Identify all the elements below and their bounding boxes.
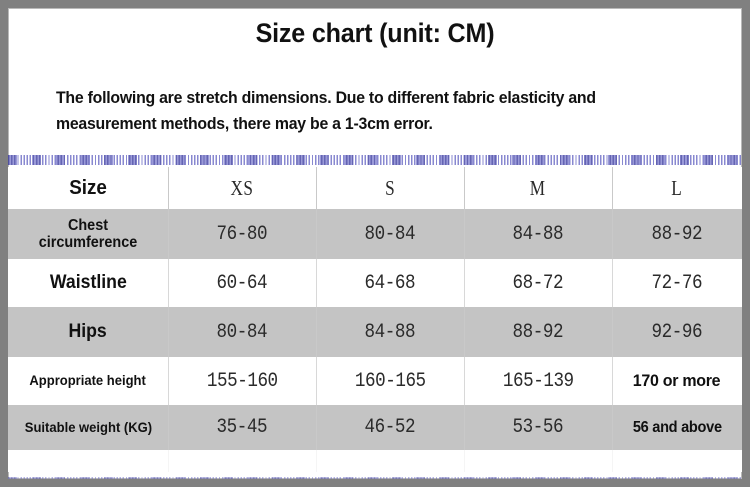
row-value-cell: 88-92 [612, 209, 742, 259]
row-value-cell: 165-139 [464, 357, 612, 405]
table-row: Hips 80-84 84-88 88-92 92-96 [8, 307, 742, 357]
row-value: 68-72 [513, 272, 564, 295]
row-value: 64-68 [365, 272, 416, 295]
header-cell-label: Size [8, 167, 168, 209]
row-value-cell: 170 or more [612, 357, 742, 405]
page-title: Size chart (unit: CM) [34, 18, 717, 49]
header-size-m: M [530, 176, 546, 201]
row-value: 165-139 [503, 370, 574, 393]
row-label-cell: Appropriate height [8, 357, 168, 405]
row-value-cell: 160-165 [316, 357, 464, 405]
row-value-cell: 80-84 [316, 209, 464, 259]
row-value: 56 and above [633, 419, 722, 437]
row-value-cell [464, 450, 612, 472]
row-value: 60-64 [217, 272, 268, 295]
row-value-cell: 64-68 [316, 259, 464, 307]
row-value-cell [316, 450, 464, 472]
row-label-cell: Suitable weight (KG) [8, 405, 168, 450]
row-value-cell: 35-45 [168, 405, 316, 450]
row-label-cell: Hips [8, 307, 168, 357]
row-value-cell: 88-92 [464, 307, 612, 357]
row-value-cell [612, 450, 742, 472]
table-row: Waistline 60-64 64-68 68-72 72-76 [8, 259, 742, 307]
header-cell-l: L [612, 167, 742, 209]
size-chart-card: Size chart (unit: CM) The following are … [8, 8, 742, 479]
table-row-partial [8, 450, 742, 472]
row-value: 88-92 [652, 223, 703, 246]
header-size-xs: XS [231, 176, 254, 201]
row-value: 80-84 [217, 321, 268, 344]
row-value-cell: 76-80 [168, 209, 316, 259]
row-label: Chest circumference [14, 217, 163, 252]
table-header-row: Size XS S M L [8, 167, 742, 209]
header-cell-xs: XS [168, 167, 316, 209]
row-value-cell: 72-76 [612, 259, 742, 307]
row-value-cell [168, 450, 316, 472]
row-value: 155-160 [207, 370, 278, 393]
row-label: Hips [65, 321, 111, 342]
row-value: 76-80 [217, 223, 268, 246]
row-value: 160-165 [355, 370, 426, 393]
row-value-cell: 80-84 [168, 307, 316, 357]
header-label-size: Size [69, 177, 107, 200]
size-chart-table: Size XS S M L Chest circumference 76-80 [8, 167, 742, 472]
row-value-cell: 92-96 [612, 307, 742, 357]
row-value: 72-76 [652, 272, 703, 295]
table-row: Chest circumference 76-80 80-84 84-88 88… [8, 209, 742, 259]
row-value-cell: 68-72 [464, 259, 612, 307]
row-value-cell: 155-160 [168, 357, 316, 405]
header-size-l: L [672, 176, 683, 201]
table-row: Suitable weight (KG) 35-45 46-52 53-56 5… [8, 405, 742, 450]
row-label: Suitable weight (KG) [21, 420, 156, 436]
row-label: Appropriate height [26, 373, 150, 389]
decorative-dotted-band-bottom [8, 477, 742, 479]
table-row: Appropriate height 155-160 160-165 165-1… [8, 357, 742, 405]
row-value-cell: 84-88 [316, 307, 464, 357]
row-value-cell: 46-52 [316, 405, 464, 450]
row-value: 84-88 [513, 223, 564, 246]
row-value: 88-92 [513, 321, 564, 344]
row-value-cell: 60-64 [168, 259, 316, 307]
row-value-cell: 53-56 [464, 405, 612, 450]
decorative-dotted-band-top [8, 155, 742, 165]
row-value-cell: 56 and above [612, 405, 742, 450]
row-label-cell [8, 450, 168, 472]
row-value: 35-45 [217, 416, 268, 439]
row-value: 92-96 [652, 321, 703, 344]
row-label-cell: Waistline [8, 259, 168, 307]
header-cell-m: M [464, 167, 612, 209]
row-label-cell: Chest circumference [8, 209, 168, 259]
row-value: 170 or more [633, 371, 721, 391]
row-value: 80-84 [365, 223, 416, 246]
chart-description: The following are stretch dimensions. Du… [56, 86, 680, 137]
row-label: Waistline [46, 272, 130, 293]
row-value: 53-56 [513, 416, 564, 439]
header-size-s: S [385, 176, 395, 201]
row-value: 46-52 [365, 416, 416, 439]
header-cell-s: S [316, 167, 464, 209]
row-value: 84-88 [365, 321, 416, 344]
row-value-cell: 84-88 [464, 209, 612, 259]
